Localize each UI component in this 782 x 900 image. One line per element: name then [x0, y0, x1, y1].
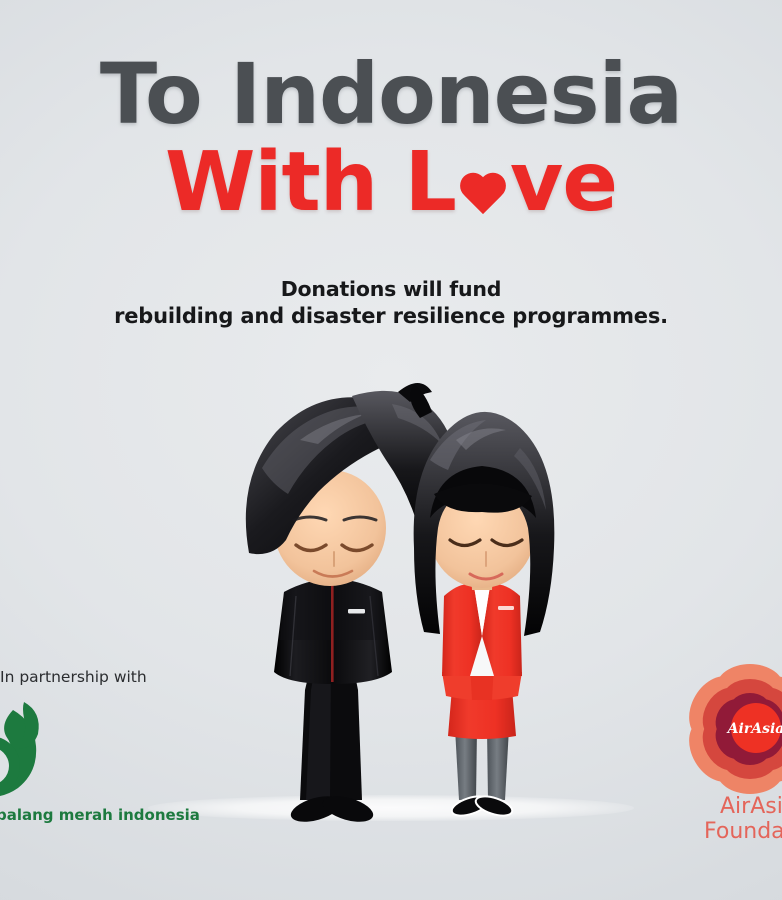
poster-canvas: To Indonesia With Lve Donations will fun…	[0, 0, 782, 900]
airasia-wordmark: AirAsia	[726, 721, 782, 737]
female-name-badge	[498, 606, 514, 610]
pmi-leaf-circle-logo	[0, 696, 88, 806]
airasia-foundation-rosette-logo: AirAsia	[688, 662, 782, 802]
male-jacket-stripe	[331, 578, 334, 682]
partner-org-name: palang merah indonesia	[0, 806, 200, 824]
airasia-foundation-name: AirAsia Foundation	[720, 795, 782, 844]
male-name-badge	[348, 609, 365, 614]
aaf-name-line-1: AirAsia	[720, 795, 782, 820]
aaf-name-line-2: Foundation	[704, 820, 782, 845]
characters-illustration	[0, 0, 782, 900]
partner-label: In partnership with	[0, 668, 147, 686]
